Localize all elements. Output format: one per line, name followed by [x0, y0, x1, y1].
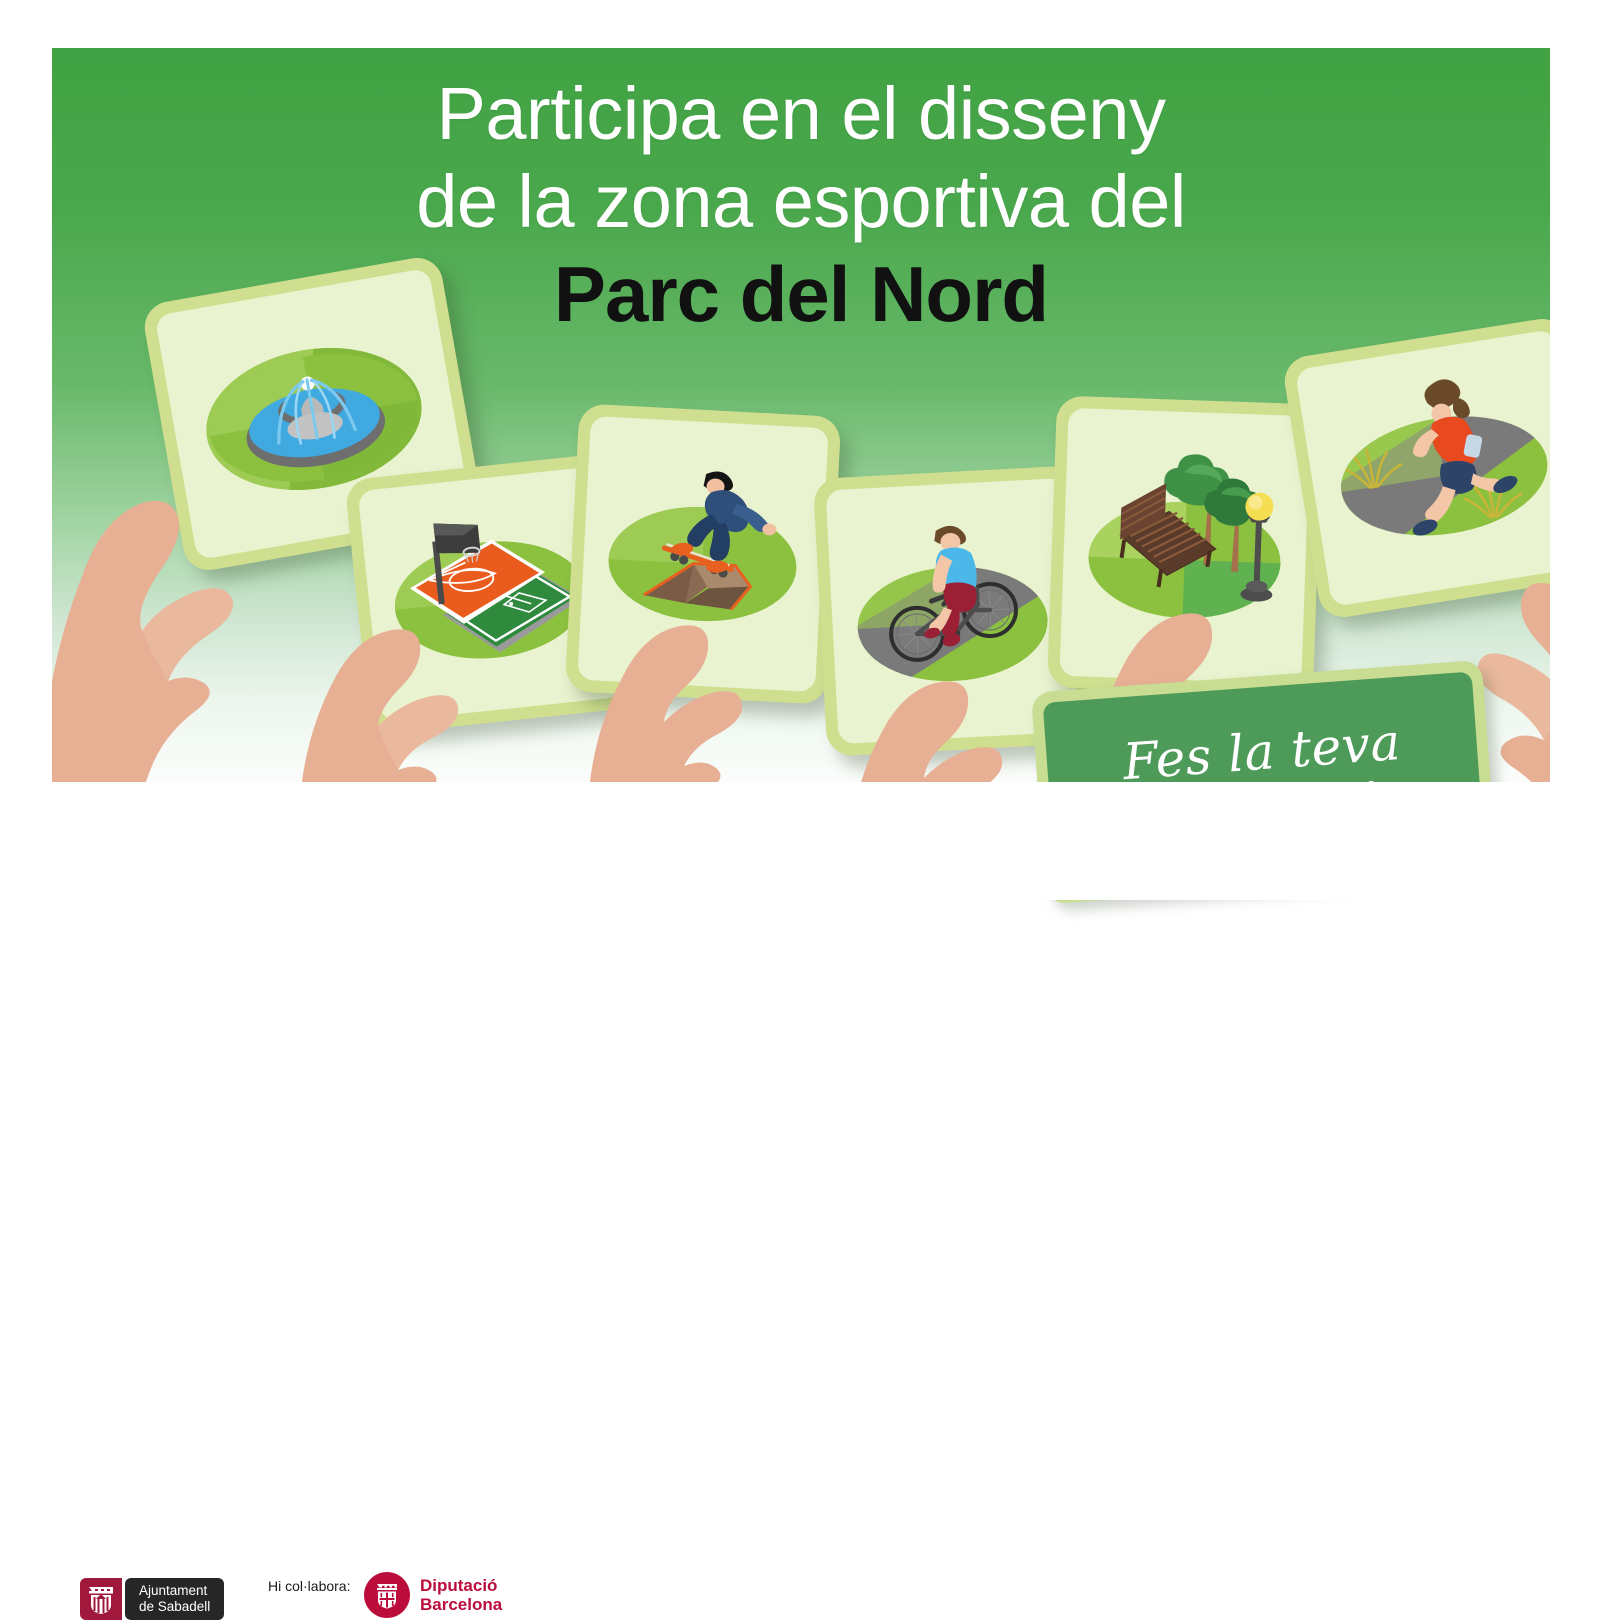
sabadell-crest-shield-icon [86, 1583, 116, 1615]
sabadell-crest-icon [80, 1578, 122, 1620]
card-running-inner [1295, 329, 1550, 607]
collaboration-label: Hi col·labora: [268, 1577, 350, 1595]
sabadell-name-box: Ajuntament de Sabadell [125, 1578, 224, 1620]
diba-line-2: Barcelona [420, 1595, 502, 1614]
headline-line-1: Participa en el disseny [52, 70, 1550, 158]
diba-line-1: Diputació [420, 1576, 502, 1595]
diba-crest-shield-icon [372, 1579, 402, 1611]
bench-lamp-icon [1059, 408, 1310, 684]
footer: Ajuntament de Sabadell Hi col·labora: [0, 782, 1600, 900]
headline-line-2: de la zona esportiva del [52, 158, 1550, 246]
logo-ajuntament-sabadell[interactable]: Ajuntament de Sabadell [80, 1578, 224, 1620]
logo-diputacio-barcelona[interactable]: Diputació Barcelona [364, 1572, 502, 1618]
skatepark-icon [577, 416, 828, 692]
card-skate-inner [577, 416, 828, 692]
card-bench[interactable] [1047, 395, 1323, 696]
sabadell-line-2: de Sabadell [139, 1599, 210, 1615]
diba-crest-icon [364, 1572, 410, 1618]
running-track-icon [1295, 329, 1550, 607]
diba-name-box: Diputació Barcelona [420, 1576, 502, 1614]
poster-root: Participa en el disseny de la zona espor… [0, 0, 1600, 900]
card-running[interactable] [1281, 315, 1550, 620]
sabadell-line-1: Ajuntament [139, 1583, 210, 1599]
card-skate[interactable] [565, 403, 842, 704]
card-bench-inner [1059, 408, 1310, 684]
